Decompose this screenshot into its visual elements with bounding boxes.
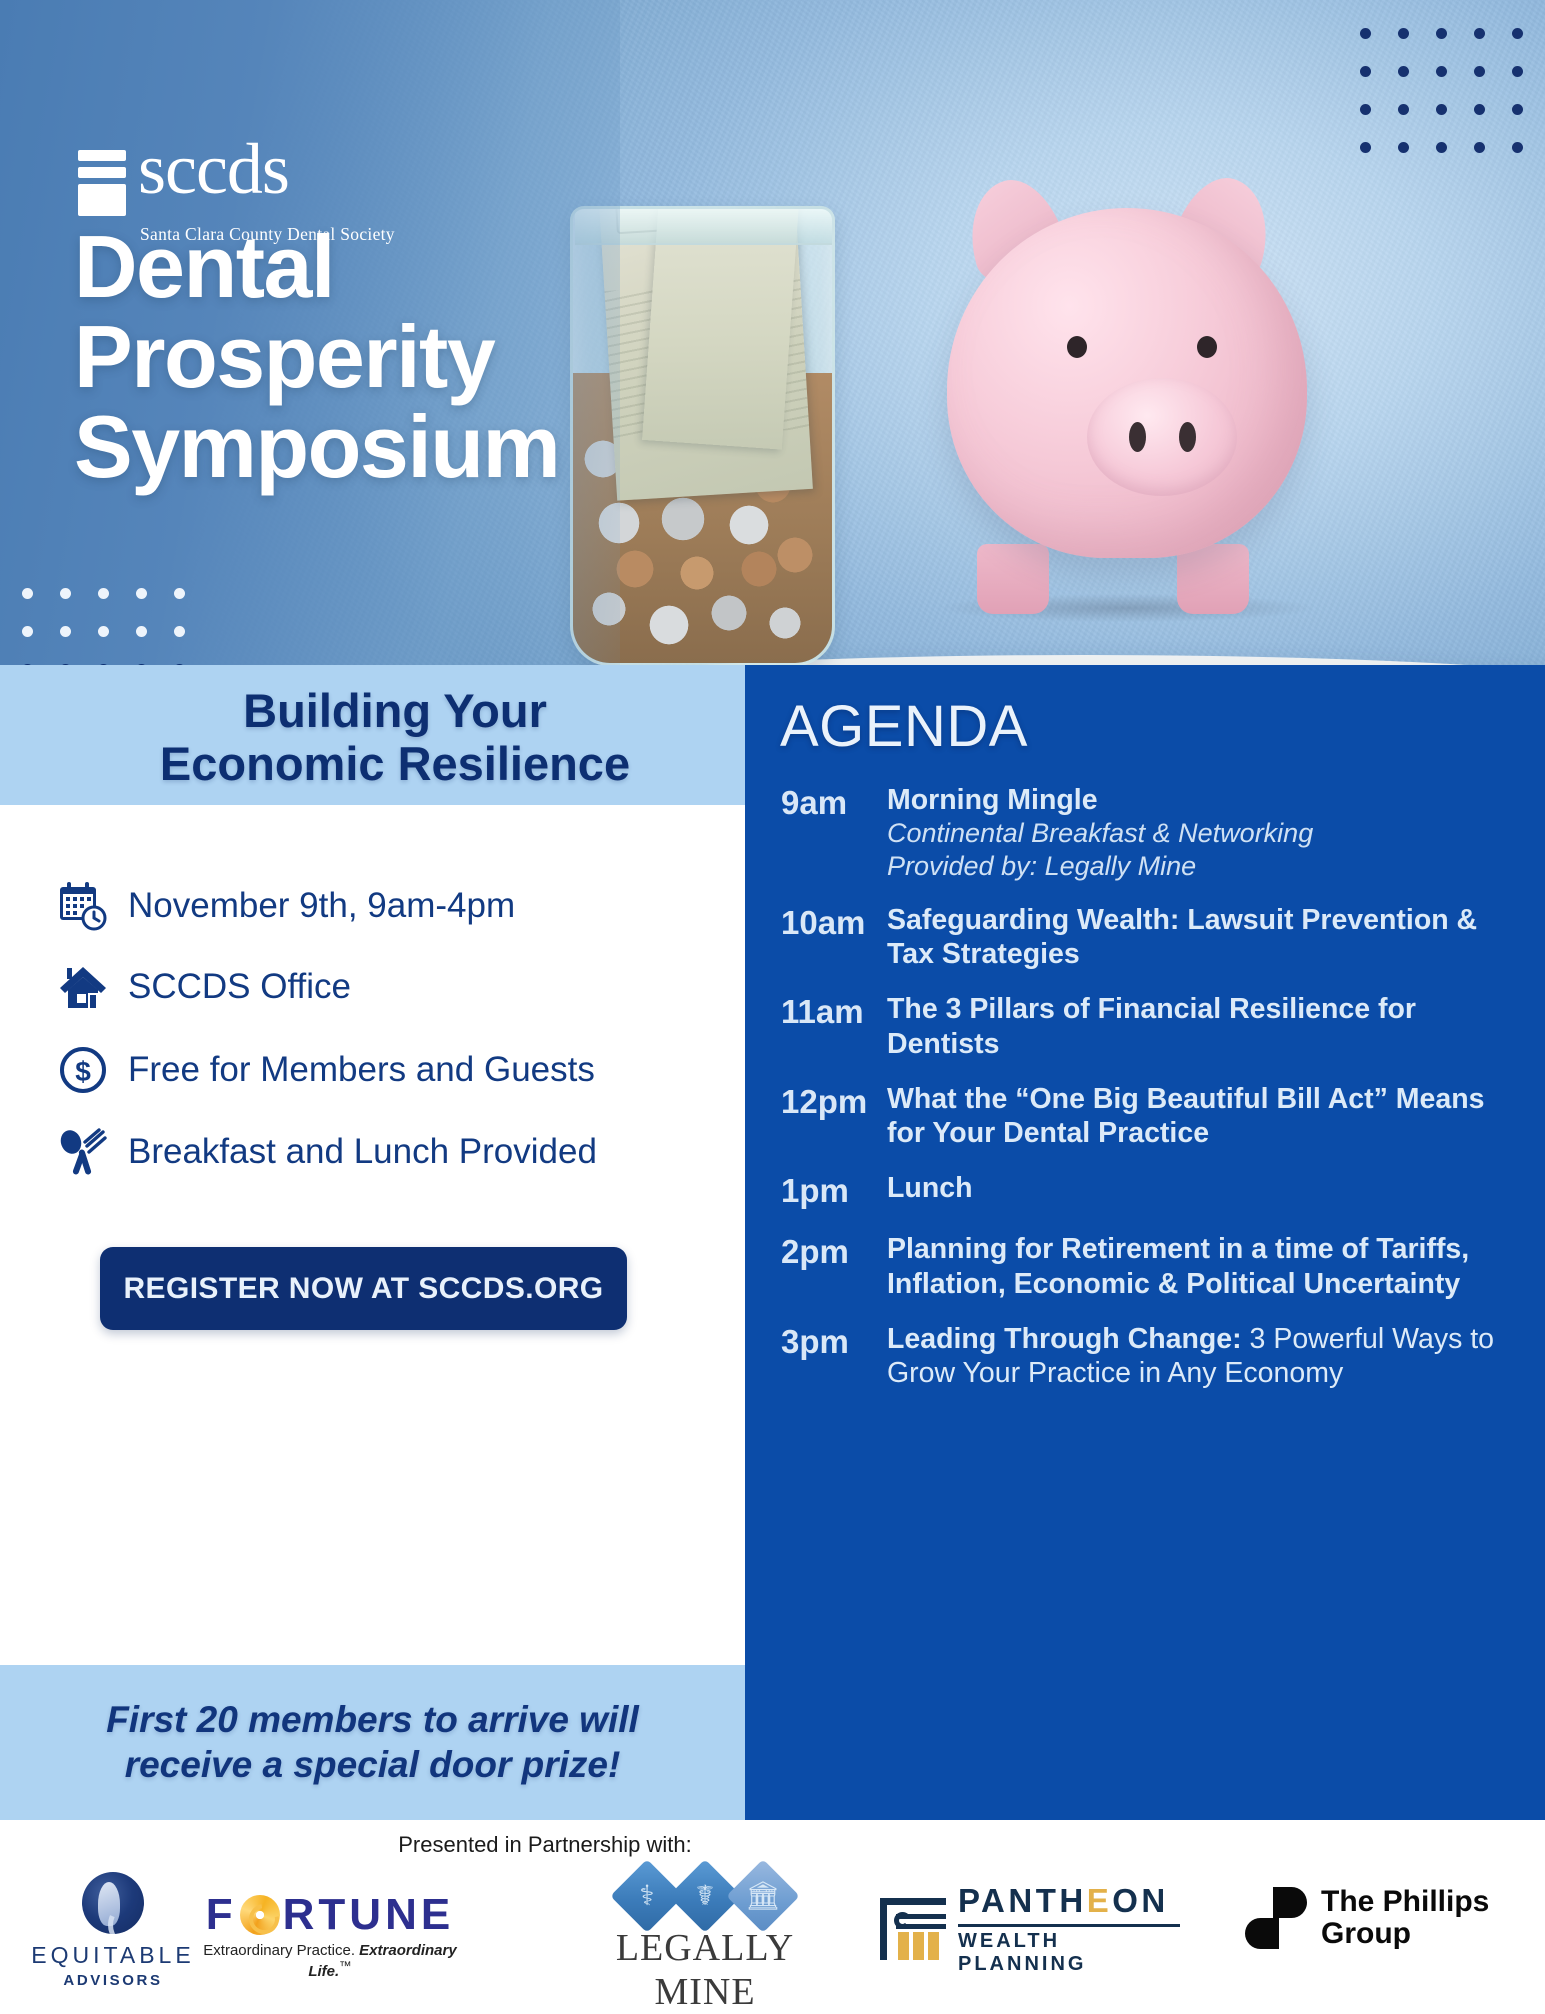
detail-text-date: November 9th, 9am-4pm	[128, 886, 515, 926]
phillips-line-2: Group	[1321, 1918, 1489, 1950]
equitable-name: EQUITABLE	[28, 1942, 198, 1969]
dot	[1398, 104, 1409, 115]
agenda-item-heading-bold: Leading Through Change:	[887, 1323, 1242, 1355]
agenda-section: AGENDA 9amMorning MingleContinental Brea…	[745, 665, 1545, 1820]
agenda-item-time: 9am	[775, 783, 887, 882]
page-title: Dental Prosperity Symposium	[74, 222, 559, 491]
agenda-item-body: The 3 Pillars of Financial Resilience fo…	[887, 992, 1517, 1060]
dot	[1474, 104, 1485, 115]
agenda-item-heading: Morning Mingle	[887, 783, 1501, 817]
agenda-item-body: Leading Through Change: 3 Powerful Ways …	[887, 1322, 1517, 1390]
svg-text:$: $	[75, 1056, 91, 1087]
dot	[1436, 104, 1447, 115]
dot	[1436, 66, 1447, 77]
agenda-item-time: 12pm	[775, 1082, 887, 1150]
agenda-item-time: 11am	[775, 992, 887, 1060]
detail-text-location: SCCDS Office	[128, 967, 351, 1007]
register-button[interactable]: REGISTER NOW AT SCCDS.ORG	[100, 1247, 627, 1330]
dot	[1474, 28, 1485, 39]
phillips-line-1: The Phillips	[1321, 1886, 1489, 1918]
subtitle-banner: Building Your Economic Resilience	[0, 665, 745, 805]
detail-row-food: Breakfast and Lunch Provided	[52, 1127, 597, 1177]
dot	[136, 588, 147, 599]
dot	[60, 626, 71, 637]
logo-the-phillips-group: The Phillips Group	[1245, 1886, 1515, 1950]
fortune-tagline: Extraordinary Practice. Extraordinary Li…	[200, 1942, 460, 1980]
dot	[22, 626, 33, 637]
legally-mine-name: LEGALLY MINE	[570, 1926, 840, 2014]
agenda-item: 2pmPlanning for Retirement in a time of …	[775, 1232, 1517, 1300]
event-details-section: November 9th, 9am-4pm SCCDS Office $ Fre…	[0, 805, 745, 1665]
detail-row-location: SCCDS Office	[52, 962, 351, 1012]
legally-mine-diamond-3: 🏛	[726, 1859, 800, 1933]
logo-pantheon-wealth-planning: PANTHEON WEALTH PLANNING	[880, 1882, 1180, 1976]
dollar-circle-icon: $	[52, 1045, 114, 1095]
agenda-title: AGENDA	[780, 693, 1028, 760]
dot	[98, 626, 109, 637]
subtitle-line-2: Economic Resilience	[75, 738, 715, 791]
door-prize-text: First 20 members to arrive will receive …	[106, 1698, 639, 1787]
detail-row-date: November 9th, 9am-4pm	[52, 880, 515, 932]
agenda-item-heading: Lunch	[887, 1171, 1501, 1205]
dot	[174, 626, 185, 637]
dot	[1398, 28, 1409, 39]
agenda-item-note: Provided by: Legally Mine	[887, 850, 1501, 882]
fortune-wordmark: F RTUNE	[200, 1890, 460, 1940]
dot	[1512, 142, 1523, 153]
piggy-eye-left	[1067, 336, 1087, 358]
logo-equitable-advisors: EQUITABLE ADVISORS	[28, 1872, 198, 1989]
legally-mine-diamonds-icon: ⚕ ☤ 🏛	[570, 1870, 840, 1922]
door-prize-banner: First 20 members to arrive will receive …	[0, 1665, 745, 1820]
phillips-p-icon	[1245, 1887, 1307, 1949]
dot	[1436, 28, 1447, 39]
dot	[1436, 142, 1447, 153]
sccds-logo-mark-icon	[78, 140, 126, 216]
agenda-item-time: 10am	[775, 903, 887, 971]
agenda-item-time: 1pm	[775, 1171, 887, 1211]
piggy-body	[947, 208, 1307, 558]
piggy-snout	[1087, 378, 1237, 496]
pantheon-name-b: ON	[1112, 1882, 1169, 1919]
dot	[1398, 66, 1409, 77]
door-prize-line-2: receive a special door prize!	[106, 1743, 639, 1787]
pantheon-divider	[958, 1924, 1180, 1927]
fork-spoon-icon	[52, 1127, 114, 1177]
agenda-item-time: 2pm	[775, 1232, 887, 1300]
footer-section: Presented in Partnership with: EQUITABLE…	[0, 1820, 1545, 2000]
sccds-wordmark: sccds	[138, 140, 289, 199]
agenda-item-body: Lunch	[887, 1171, 1517, 1211]
agenda-item-heading: What the “One Big Beautiful Bill Act” Me…	[887, 1082, 1501, 1150]
piggy-leg-left	[977, 544, 1049, 614]
dot	[1512, 66, 1523, 77]
title-line-2: Prosperity	[74, 312, 559, 402]
register-button-label: REGISTER NOW AT SCCDS.ORG	[123, 1272, 603, 1306]
logo-fortune: F RTUNE Extraordinary Practice. Extraord…	[200, 1890, 460, 1980]
logo-legally-mine: ⚕ ☤ 🏛 LEGALLY MINE	[570, 1870, 840, 2014]
door-prize-line-1: First 20 members to arrive will	[106, 1698, 639, 1742]
agenda-item-heading: Leading Through Change: 3 Powerful Ways …	[887, 1322, 1501, 1390]
agenda-item-body: What the “One Big Beautiful Bill Act” Me…	[887, 1082, 1517, 1150]
piggy-nostril-right	[1179, 422, 1196, 452]
pantheon-sub: WEALTH PLANNING	[958, 1930, 1180, 1976]
agenda-item: 1pmLunch	[775, 1171, 1517, 1211]
agenda-item: 3pmLeading Through Change: 3 Powerful Wa…	[775, 1322, 1517, 1390]
dot	[1474, 66, 1485, 77]
detail-row-price: $ Free for Members and Guests	[52, 1045, 595, 1095]
subtitle-line-1: Building Your	[75, 685, 715, 738]
piggy-nostril-left	[1129, 422, 1146, 452]
pantheon-name-e: E	[1087, 1882, 1113, 1919]
agenda-item-body: Planning for Retirement in a time of Tar…	[887, 1232, 1517, 1300]
agenda-item: 12pmWhat the “One Big Beautiful Bill Act…	[775, 1082, 1517, 1150]
piggy-leg-right	[1177, 544, 1249, 614]
detail-text-food: Breakfast and Lunch Provided	[128, 1132, 597, 1172]
dot	[1398, 142, 1409, 153]
dot	[60, 588, 71, 599]
fortune-post: RTUNE	[283, 1890, 455, 1940]
phillips-wordmark: The Phillips Group	[1321, 1886, 1489, 1950]
dot	[1360, 66, 1371, 77]
agenda-item-body: Safeguarding Wealth: Lawsuit Prevention …	[887, 903, 1517, 971]
dot	[1512, 104, 1523, 115]
dot	[1474, 142, 1485, 153]
dot	[98, 588, 109, 599]
piggy-bank	[925, 180, 1325, 610]
agenda-item-heading: Safeguarding Wealth: Lawsuit Prevention …	[887, 903, 1501, 971]
pantheon-name-a: PANTH	[958, 1882, 1087, 1919]
pantheon-column-icon	[880, 1898, 946, 1960]
dot	[136, 626, 147, 637]
agenda-item: 11amThe 3 Pillars of Financial Resilienc…	[775, 992, 1517, 1060]
piggy-eye-right	[1197, 336, 1217, 358]
pantheon-wordmark: PANTHEON	[958, 1882, 1180, 1920]
dot	[1512, 28, 1523, 39]
detail-text-price: Free for Members and Guests	[128, 1050, 595, 1090]
agenda-item-time: 3pm	[775, 1322, 887, 1390]
dot	[22, 588, 33, 599]
agenda-item: 10amSafeguarding Wealth: Lawsuit Prevent…	[775, 903, 1517, 971]
agenda-item-body: Morning MingleContinental Breakfast & Ne…	[887, 783, 1517, 882]
equitable-sub: ADVISORS	[28, 1972, 198, 1989]
partner-logos: EQUITABLE ADVISORS F RTUNE Extraordinary…	[0, 1864, 1545, 1994]
fortune-pre: F	[206, 1890, 237, 1940]
fortune-spiral-icon	[240, 1895, 280, 1935]
dot	[1360, 28, 1371, 39]
agenda-item-heading: Planning for Retirement in a time of Tar…	[887, 1232, 1501, 1300]
dot	[1360, 142, 1371, 153]
title-line-1: Dental	[74, 222, 559, 312]
agenda-item-note: Continental Breakfast & Networking	[887, 817, 1501, 849]
agenda-list: 9amMorning MingleContinental Breakfast &…	[775, 783, 1517, 1411]
subtitle-text: Building Your Economic Resilience	[75, 685, 715, 790]
dot	[1360, 104, 1371, 115]
dot	[174, 588, 185, 599]
equitable-emblem-icon	[82, 1872, 144, 1934]
agenda-item: 9amMorning MingleContinental Breakfast &…	[775, 783, 1517, 882]
partnership-note: Presented in Partnership with:	[0, 1832, 1090, 1858]
calendar-clock-icon	[52, 880, 114, 932]
agenda-item-heading: The 3 Pillars of Financial Resilience fo…	[887, 992, 1501, 1060]
fortune-tagline-a: Extraordinary Practice.	[203, 1942, 359, 1959]
title-line-3: Symposium	[74, 402, 559, 492]
home-icon	[52, 962, 114, 1012]
